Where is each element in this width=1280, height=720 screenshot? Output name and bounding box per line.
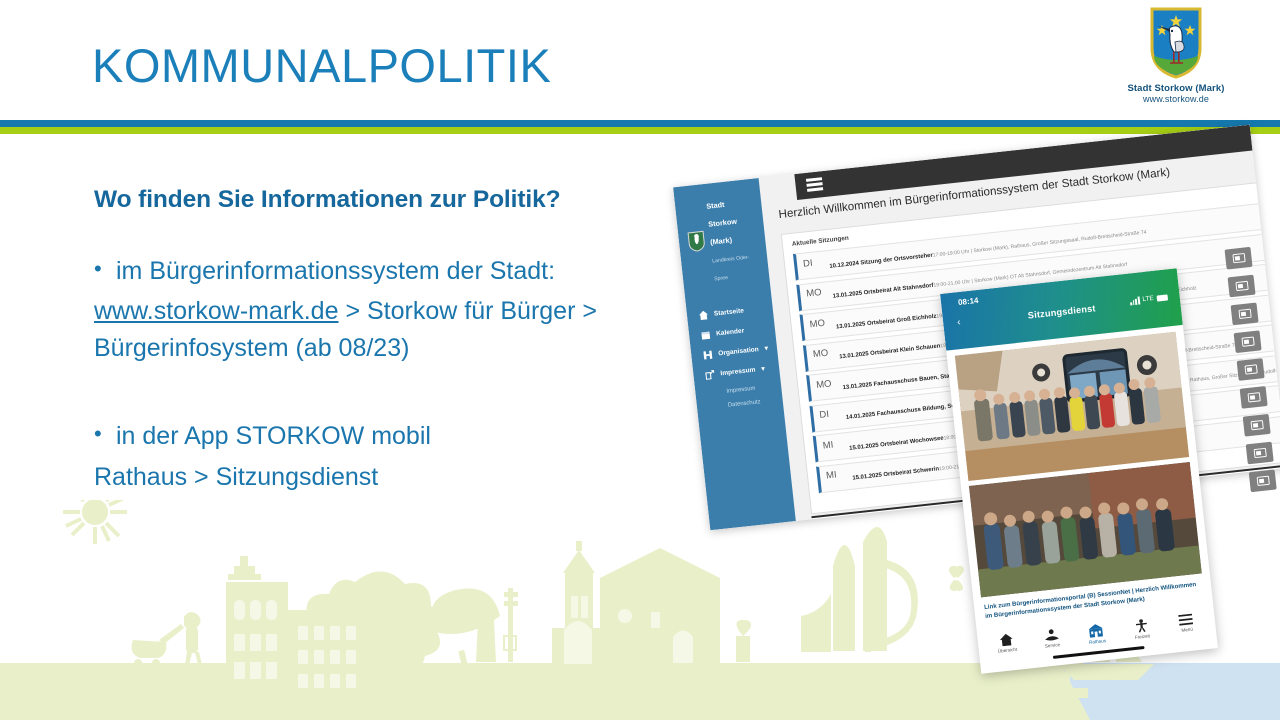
bullet-item-2: • in der App STORKOW mobil [94,421,714,452]
sidebar-subitem-impressum[interactable]: Impressum [726,383,772,394]
nav-item-menue[interactable]: Menü [1166,612,1208,636]
stork-coat-of-arms-icon [1120,6,1232,80]
nav-label: Menü [1167,625,1207,634]
row-weekday: MI [822,437,840,451]
app-screen-title: Sitzungsdienst [943,294,1181,330]
person-leisure-icon [1135,619,1147,633]
sidebar-subitem-datenschutz[interactable]: Datenschutz [728,397,774,408]
document-icon [1249,470,1277,493]
row-title: 13.01.2025 Ortsbeirat Groß Eichholz [836,313,937,330]
nav-label: Übersicht [987,646,1027,655]
document-icon [1228,275,1256,298]
nav-item-freizeit[interactable]: Freizeit [1121,617,1163,641]
external-link-icon [705,370,715,380]
document-icon [1231,303,1259,326]
bullet-glyph-icon: • [94,256,116,282]
row-title: 15.01.2025 Ortsbeirat Schwerin [852,466,939,481]
website-path-line-1: www.storkow-mark.de > Storkow für Bürger… [94,295,714,328]
row-weekday: MO [812,346,830,360]
sidebar-item-kalender[interactable]: Kalender [698,324,767,340]
content-column: Wo finden Sie Informationen zur Politik?… [94,186,714,498]
bullet-glyph-icon: • [94,421,116,447]
sidebar-item-startseite[interactable]: Startseite [696,304,765,320]
status-time: 08:14 [958,296,979,307]
row-weekday: MI [825,468,843,482]
row-title: 13.01.2025 Ortsbeirat Klein Schauen [839,343,941,360]
document-icon [1225,247,1253,270]
sidebar-label: Startseite [714,307,745,317]
group-photo-outdoor [969,462,1202,597]
document-icon [1237,358,1265,381]
nav-label: Rathaus [1077,637,1117,646]
path-suffix: > Storkow für Bürger > [339,297,597,325]
storkow-website-link[interactable]: www.storkow-mark.de [94,297,339,325]
hand-service-icon [1044,628,1059,641]
bullet-item-1: • im Bürgerinformationssystem der Stadt: [94,256,714,287]
bis-sidebar-brand: Stadt Storkow (Mark) Landkreis Oder-Spre… [683,191,760,287]
nav-item-service[interactable]: Service [1031,627,1073,651]
row-title: 13.01.2025 Ortsbeirat Alt Stahnsdorf [832,283,933,300]
page-title: KOMMUNALPOLITIK [92,38,551,93]
row-weekday: MO [806,286,824,300]
row-weekday: MO [816,377,834,391]
nav-label: Service [1032,641,1072,650]
chevron-down-icon: ▾ [761,365,765,373]
sidebar-item-organisation[interactable]: Organisation ▾ [700,344,769,360]
home-icon [699,310,709,320]
row-title: 10.12.2024 Sitzung der Ortsvorsteher [829,252,933,269]
home-icon [999,633,1013,646]
header-rule-blue [0,120,1280,127]
sidebar-label: Kalender [716,327,745,337]
menu-lines-icon [1178,614,1193,626]
row-weekday: MO [809,316,827,330]
storkow-mobil-app-screenshot: 08:14 LTE ‹ Sitzungsdienst [940,268,1218,673]
document-icon [1240,386,1268,409]
sidebar-item-impressum[interactable]: Impressum ▾ [702,363,771,379]
screenshot-composite: Stadt Storkow (Mark) Landkreis Oder-Spre… [660,150,1280,680]
organisation-icon [703,350,713,360]
app-path-label: Rathaus > Sitzungsdienst [94,461,714,494]
sidebar-label: Organisation [718,346,759,357]
row-title: 15.01.2025 Ortsbeirat Wochowsee [849,435,944,451]
bullet-2-label: in der App STORKOW mobil [116,421,714,452]
crest-icon [687,231,706,254]
row-weekday: DI [819,407,837,421]
logo-city-name: Stadt Storkow (Mark) [1120,83,1232,94]
calendar-icon [701,330,711,340]
lead-question: Wo finden Sie Informationen zur Politik? [94,186,714,214]
home-indicator-bar [1053,646,1145,659]
bis-brand-sub: Landkreis Oder-Spree [712,254,750,282]
city-logo: Stadt Storkow (Mark) www.storkow.de [1120,6,1232,104]
group-photo-hall [955,332,1189,481]
nav-item-uebersicht[interactable]: Übersicht [986,632,1028,656]
spacer [94,369,714,421]
header-rule-green [0,127,1280,134]
row-weekday: DI [802,255,820,269]
nav-item-rathaus[interactable]: Rathaus [1076,622,1118,646]
hamburger-menu-icon[interactable] [806,177,823,192]
document-icon [1234,330,1262,353]
document-icon [1246,442,1274,465]
document-icon [1243,414,1271,437]
sidebar-label: Impressum [720,366,756,377]
website-path-line-2: Bürgerinfosystem (ab 08/23) [94,332,714,365]
logo-url: www.storkow.de [1120,94,1232,104]
bis-brand-name: Stadt Storkow (Mark) [706,200,738,247]
chevron-down-icon: ▾ [764,344,768,352]
nav-label: Freizeit [1122,632,1162,641]
slide-canvas: KOMMUNALPOLITIK Stadt Stork [0,0,1280,720]
townhall-icon [1088,623,1104,638]
bullet-1-label: im Bürgerinformationssystem der Stadt: [116,256,714,287]
